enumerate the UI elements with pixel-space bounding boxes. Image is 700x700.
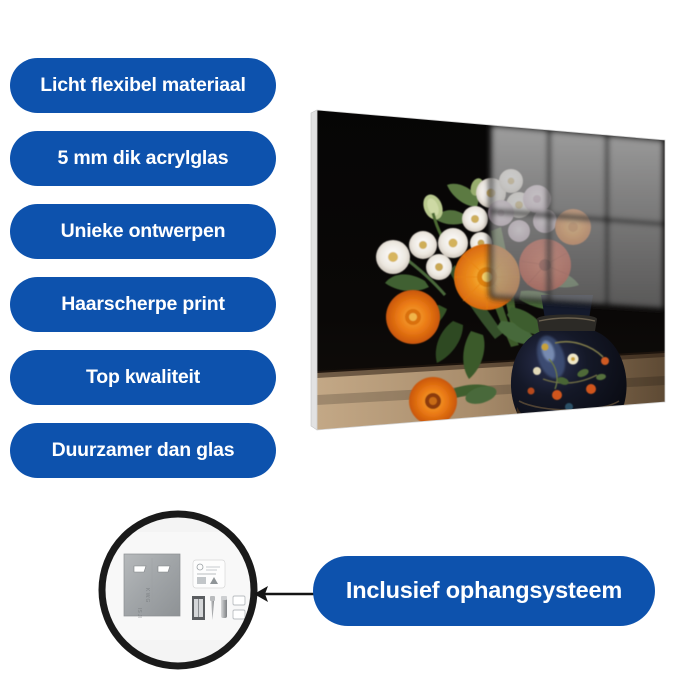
instruction-card [193,560,225,588]
feature-pill-top-kwaliteit[interactable]: Top kwaliteit [10,350,276,405]
mounting-plate: K W.G IS Jl [124,554,180,618]
window-reflection-overlay [491,125,663,308]
feature-pill-list: Licht flexibel materiaal 5 mm dik acrylg… [10,58,276,496]
feature-pill-label: Unieke ontwerpen [61,222,226,242]
mounting-kit-inset[interactable]: K W.G IS Jl [98,510,258,670]
feature-pill-5-mm-dik-acrylglas[interactable]: 5 mm dik acrylglas [10,131,276,186]
feature-pill-unieke-ontwerpen[interactable]: Unieke ontwerpen [10,204,276,259]
feature-pill-haarscherpe-print[interactable]: Haarscherpe print [10,277,276,332]
callout-arrow [252,578,322,610]
product-panel-acrylic[interactable] [305,95,680,445]
feature-pill-label: Licht flexibel materiaal [40,76,245,96]
feature-pill-label: Haarscherpe print [61,295,225,315]
feature-pill-duurzamer-dan-glas[interactable]: Duurzamer dan glas [10,423,276,478]
feature-pill-label: Duurzamer dan glas [52,441,235,461]
callout-pill-label: Inclusief ophangsysteem [346,579,622,603]
infographic-canvas: Licht flexibel materiaal 5 mm dik acrylg… [0,0,700,700]
flower-orange-left [386,290,440,344]
feature-pill-label: Top kwaliteit [86,368,200,388]
arrow-left-icon [252,578,322,610]
feature-pill-licht-flexibel-materiaal[interactable]: Licht flexibel materiaal [10,58,276,113]
callout-pill-inclusief-ophangsysteem[interactable]: Inclusief ophangsysteem [313,556,655,626]
panel-edge-thickness [311,110,317,430]
panel-artwork [305,95,680,445]
feature-pill-label: 5 mm dik acrylglas [58,149,229,169]
product-panel-illustration [305,95,680,445]
svg-text:IS Jl: IS Jl [136,608,142,618]
mounting-kit-illustration: K W.G IS Jl [98,510,258,670]
svg-text:K W.G: K W.G [144,588,150,603]
